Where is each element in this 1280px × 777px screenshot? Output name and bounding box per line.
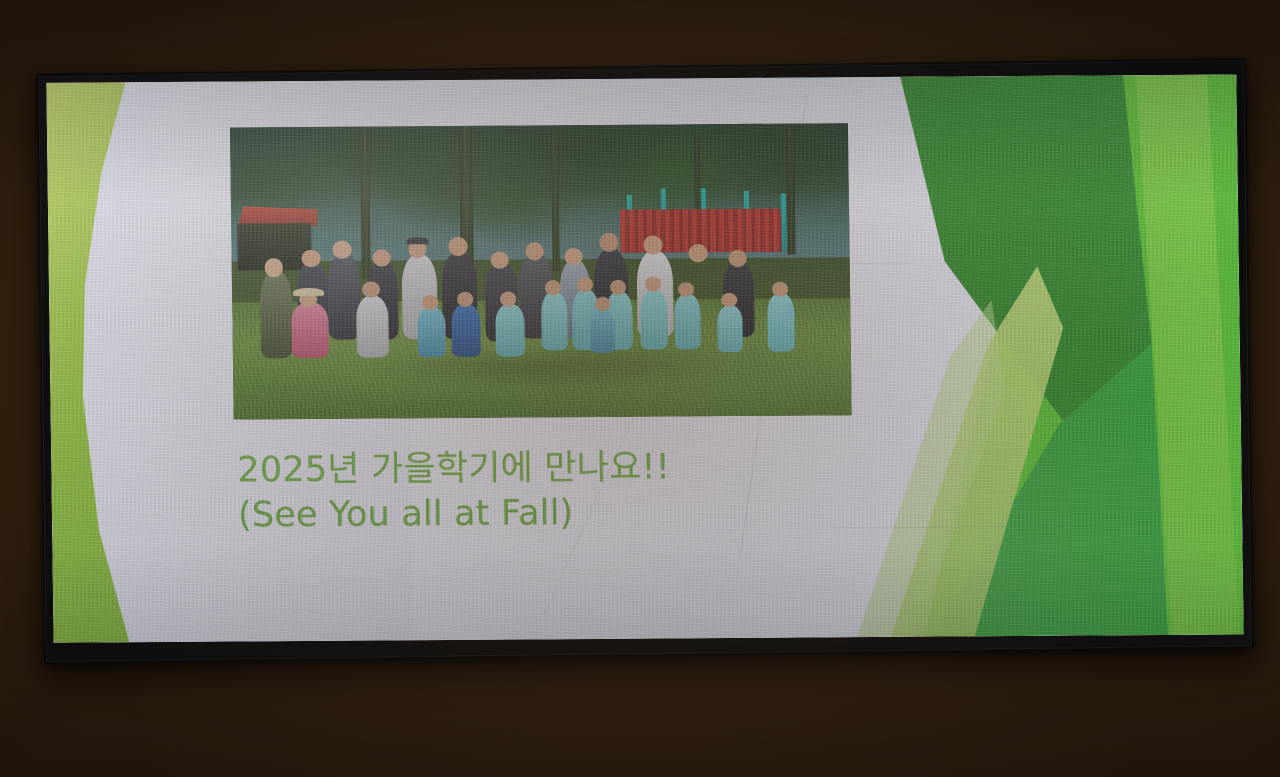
photo-child-head — [595, 297, 610, 311]
photo-person-head — [525, 242, 544, 260]
photo-child — [541, 292, 568, 351]
photo-person-head — [264, 259, 283, 278]
group-photo-image — [230, 123, 852, 419]
photo-person-hat — [406, 237, 428, 244]
photo-person-head — [333, 241, 352, 259]
photo-child — [452, 304, 481, 357]
photo-child — [717, 305, 742, 352]
photo-child-head — [577, 277, 593, 292]
photo-child-head — [362, 281, 380, 297]
photo-child-head — [771, 281, 787, 296]
photo-person-head — [302, 250, 321, 268]
photo-person-hat — [293, 287, 324, 296]
presentation-slide: 2025년 가을학기에 만나요!! (See You all at Fall) — [46, 75, 1243, 643]
photo-person-head — [643, 235, 662, 254]
slide-caption: 2025년 가을학기에 만나요!! (See You all at Fall) — [237, 445, 938, 537]
display-panel: 2025년 가을학기에 만나요!! (See You all at Fall) — [46, 75, 1243, 643]
photo-child-head — [678, 282, 694, 297]
photo-playground-post — [781, 194, 787, 252]
photo-child — [640, 288, 668, 349]
photo-child — [418, 307, 446, 357]
photo-child — [356, 296, 389, 358]
photo-child-head — [457, 292, 473, 307]
photo-person-head — [490, 251, 508, 269]
photo-person-head — [448, 237, 467, 256]
photo-person-head — [565, 248, 583, 266]
room-background: 2025년 가을학기에 만나요!! (See You all at Fall) — [0, 0, 1280, 777]
photo-person-head — [728, 249, 746, 266]
photo-child — [674, 294, 701, 350]
photo-tree-trunk — [786, 126, 796, 255]
caption-line-english: (See You all at Fall) — [238, 489, 939, 537]
photo-child — [591, 309, 615, 353]
photo-child-head — [645, 276, 661, 291]
photo-person-head — [689, 244, 708, 262]
photo-child-head — [610, 280, 626, 295]
photo-person-head — [372, 249, 390, 267]
wall-mounted-display: 2025년 가을학기에 만나요!! (See You all at Fall) — [36, 58, 1254, 664]
caption-line-korean: 2025년 가을학기에 만나요!! — [237, 445, 938, 493]
photo-child — [495, 304, 525, 357]
photo-person-seated — [291, 302, 329, 358]
slide-photo-frame — [230, 123, 852, 419]
photo-child — [767, 293, 795, 352]
photo-person — [260, 270, 293, 358]
